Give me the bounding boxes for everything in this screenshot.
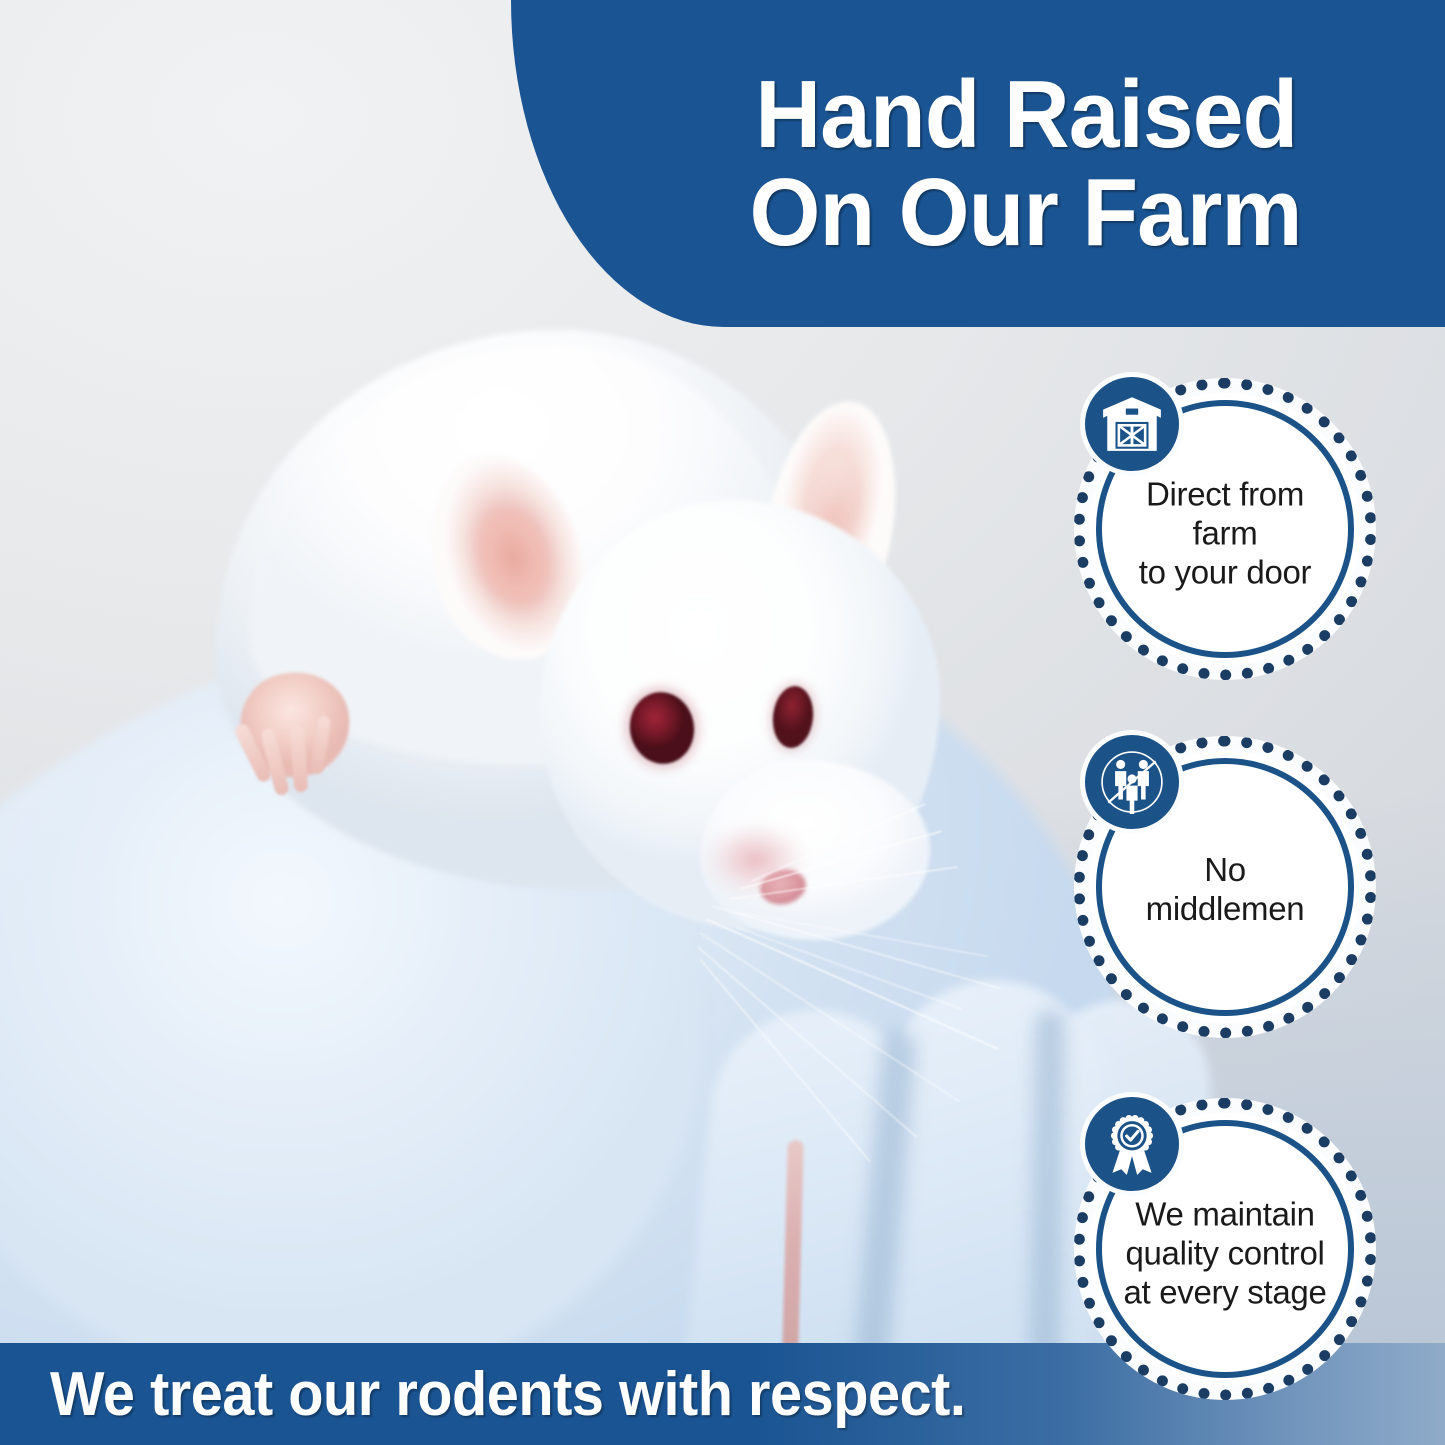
bottom-banner-text: We treat our rodents with respect. <box>50 1359 965 1430</box>
barn-icon <box>1080 372 1184 476</box>
feature-badge-direct-from-farm[interactable]: Direct from farm to your door <box>1074 378 1376 680</box>
marketing-poster: Hand Raised On Our Farm Direct from farm… <box>0 0 1445 1445</box>
header-banner: Hand Raised On Our Farm <box>511 0 1445 327</box>
no-middlemen-icon <box>1080 730 1184 834</box>
badge-label: No middlemen <box>1110 851 1340 929</box>
feature-badge-quality-control[interactable]: We maintain quality control at every sta… <box>1074 1098 1376 1400</box>
badge-label: We maintain quality control at every sta… <box>1110 1195 1340 1312</box>
feature-badge-no-middlemen[interactable]: No middlemen <box>1074 736 1376 1038</box>
header-title-line-1: Hand Raised <box>755 66 1297 164</box>
quality-award-ribbon-icon <box>1080 1092 1184 1196</box>
badge-label: Direct from farm to your door <box>1110 475 1340 592</box>
header-title-line-2: On Our Farm <box>750 164 1302 262</box>
